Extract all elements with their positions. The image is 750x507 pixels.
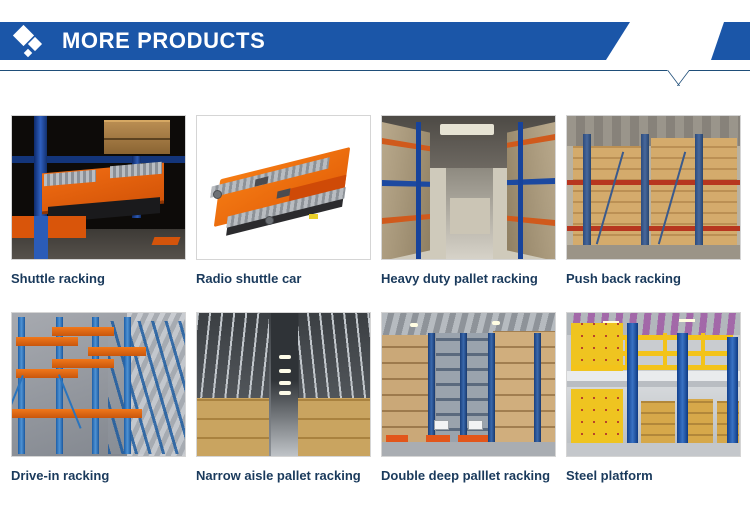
product-label: Push back racking bbox=[566, 271, 741, 287]
product-label: Drive-in racking bbox=[11, 468, 186, 484]
product-card-steel-platform[interactable]: Steel platform bbox=[566, 312, 741, 484]
product-thumbnail[interactable] bbox=[196, 115, 371, 260]
product-card-heavy-duty-pallet-racking[interactable]: Heavy duty pallet racking bbox=[381, 115, 556, 287]
divider-left bbox=[0, 70, 667, 71]
product-card-double-deep-pallet-racking[interactable]: Double deep palllet racking bbox=[381, 312, 556, 484]
product-label: Heavy duty pallet racking bbox=[381, 271, 556, 287]
product-thumbnail[interactable] bbox=[11, 312, 186, 457]
header-divider bbox=[0, 70, 750, 90]
product-thumbnail[interactable] bbox=[566, 312, 741, 457]
product-row: Drive-in racking bbox=[11, 312, 739, 507]
product-card-push-back-racking[interactable]: Push back racking bbox=[566, 115, 741, 287]
product-card-drive-in-racking[interactable]: Drive-in racking bbox=[11, 312, 186, 484]
page-header: MORE PRODUCTS bbox=[0, 0, 750, 90]
product-card-narrow-aisle-pallet-racking[interactable]: Narrow aisle pallet racking bbox=[196, 312, 371, 484]
product-label: Radio shuttle car bbox=[196, 271, 371, 287]
drive-in-racking-image bbox=[12, 313, 185, 456]
radio-shuttle-car-image bbox=[197, 116, 370, 259]
steel-platform-image bbox=[567, 313, 740, 456]
product-thumbnail[interactable] bbox=[381, 312, 556, 457]
product-thumbnail[interactable] bbox=[566, 115, 741, 260]
header-banner-accent bbox=[711, 22, 750, 60]
diamond-cluster-icon bbox=[14, 26, 56, 58]
narrow-aisle-pallet-racking-image bbox=[197, 313, 370, 456]
shuttle-racking-image bbox=[12, 116, 185, 259]
divider-notch bbox=[667, 70, 689, 86]
page-title: MORE PRODUCTS bbox=[62, 28, 265, 54]
product-label: Double deep palllet racking bbox=[381, 468, 556, 484]
diamond-small bbox=[24, 49, 32, 57]
product-row: Shuttle racking bbox=[11, 115, 739, 312]
heavy-duty-pallet-racking-image bbox=[382, 116, 555, 259]
double-deep-pallet-racking-image bbox=[382, 313, 555, 456]
push-back-racking-image bbox=[567, 116, 740, 259]
product-label: Narrow aisle pallet racking bbox=[196, 468, 371, 484]
product-grid: Shuttle racking bbox=[11, 115, 739, 507]
product-thumbnail[interactable] bbox=[381, 115, 556, 260]
product-card-radio-shuttle-car[interactable]: Radio shuttle car bbox=[196, 115, 371, 287]
more-products-page: MORE PRODUCTS bbox=[0, 0, 750, 507]
product-label: Steel platform bbox=[566, 468, 741, 484]
product-card-shuttle-racking[interactable]: Shuttle racking bbox=[11, 115, 186, 287]
product-label: Shuttle racking bbox=[11, 271, 186, 287]
product-thumbnail[interactable] bbox=[11, 115, 186, 260]
product-thumbnail[interactable] bbox=[196, 312, 371, 457]
